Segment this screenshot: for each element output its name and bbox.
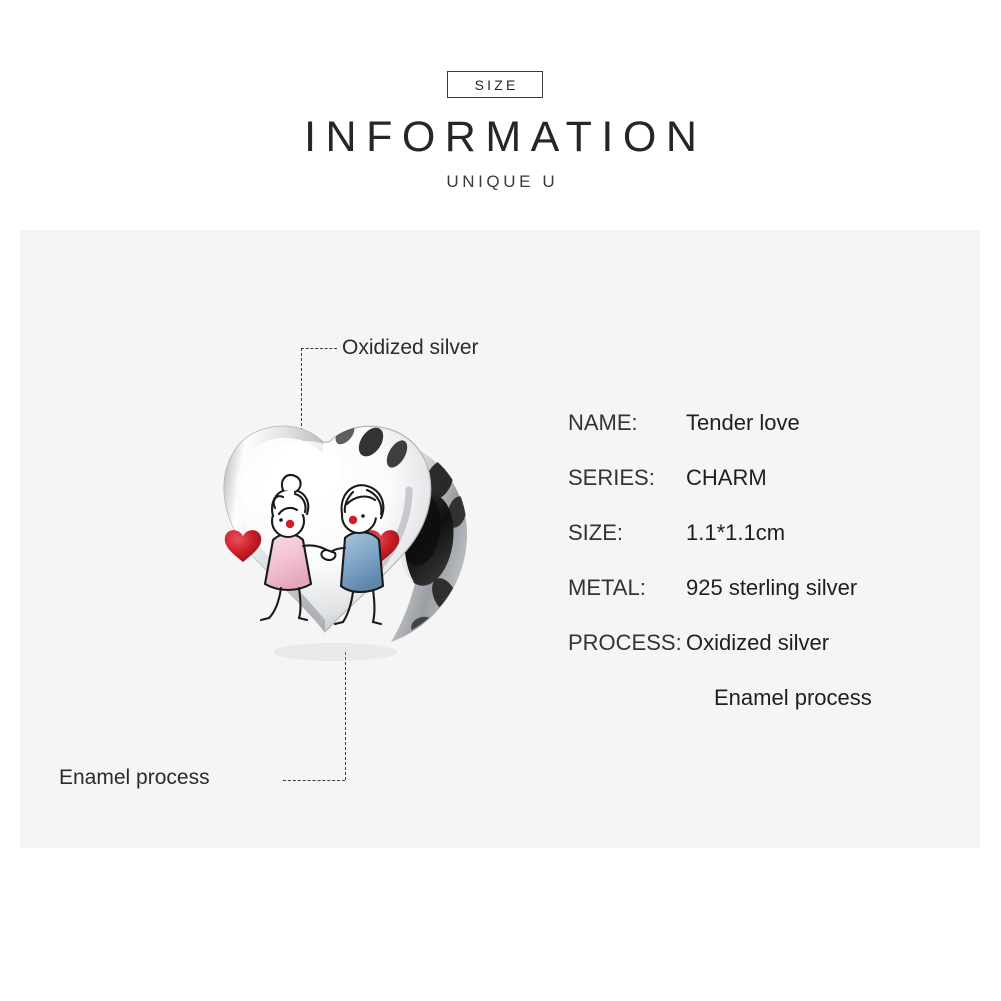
page-title: INFORMATION [0,113,1001,162]
spec-row-metal: METAL: 925 sterling silver [568,577,968,632]
product-image-heart-charm [195,420,495,670]
leader-line-oxidized-horizontal [301,348,337,349]
spec-value-process-continued: Enamel process [686,687,872,709]
spec-value-name: Tender love [686,412,800,434]
spec-label-name: NAME: [568,412,686,434]
specification-list: NAME: Tender love SERIES: CHARM SIZE: 1.… [568,412,968,739]
size-badge-label: SIZE [471,78,518,92]
size-badge: SIZE [447,71,543,98]
callout-label-enamel-process: Enamel process [59,767,210,788]
charm-reflection [273,643,397,661]
spec-row-name: NAME: Tender love [568,412,968,467]
spec-row-size: SIZE: 1.1*1.1cm [568,522,968,577]
leader-line-enamel-horizontal [283,780,345,781]
enamel-shirt-blue [341,532,383,592]
spec-value-metal: 925 sterling silver [686,577,857,599]
page-header: SIZE INFORMATION UNIQUE U [0,0,1001,230]
spec-label-series: SERIES: [568,467,686,489]
spec-row-process: PROCESS: Oxidized silver [568,632,968,687]
callout-label-oxidized-silver: Oxidized silver [342,337,479,358]
spec-label-process: PROCESS: [568,632,686,654]
enamel-dress-pink [265,534,311,590]
spec-row-series: SERIES: CHARM [568,467,968,522]
charm-heart-face [224,420,431,632]
spec-value-series: CHARM [686,467,767,489]
leader-line-enamel-vertical [345,652,346,780]
page-subtitle: UNIQUE U [0,172,1001,192]
spec-label-size: SIZE: [568,522,686,544]
spec-value-process: Oxidized silver [686,632,829,654]
spec-value-size: 1.1*1.1cm [686,522,785,544]
spec-row-process-continued: Enamel process [568,687,968,739]
spec-label-metal: METAL: [568,577,686,599]
